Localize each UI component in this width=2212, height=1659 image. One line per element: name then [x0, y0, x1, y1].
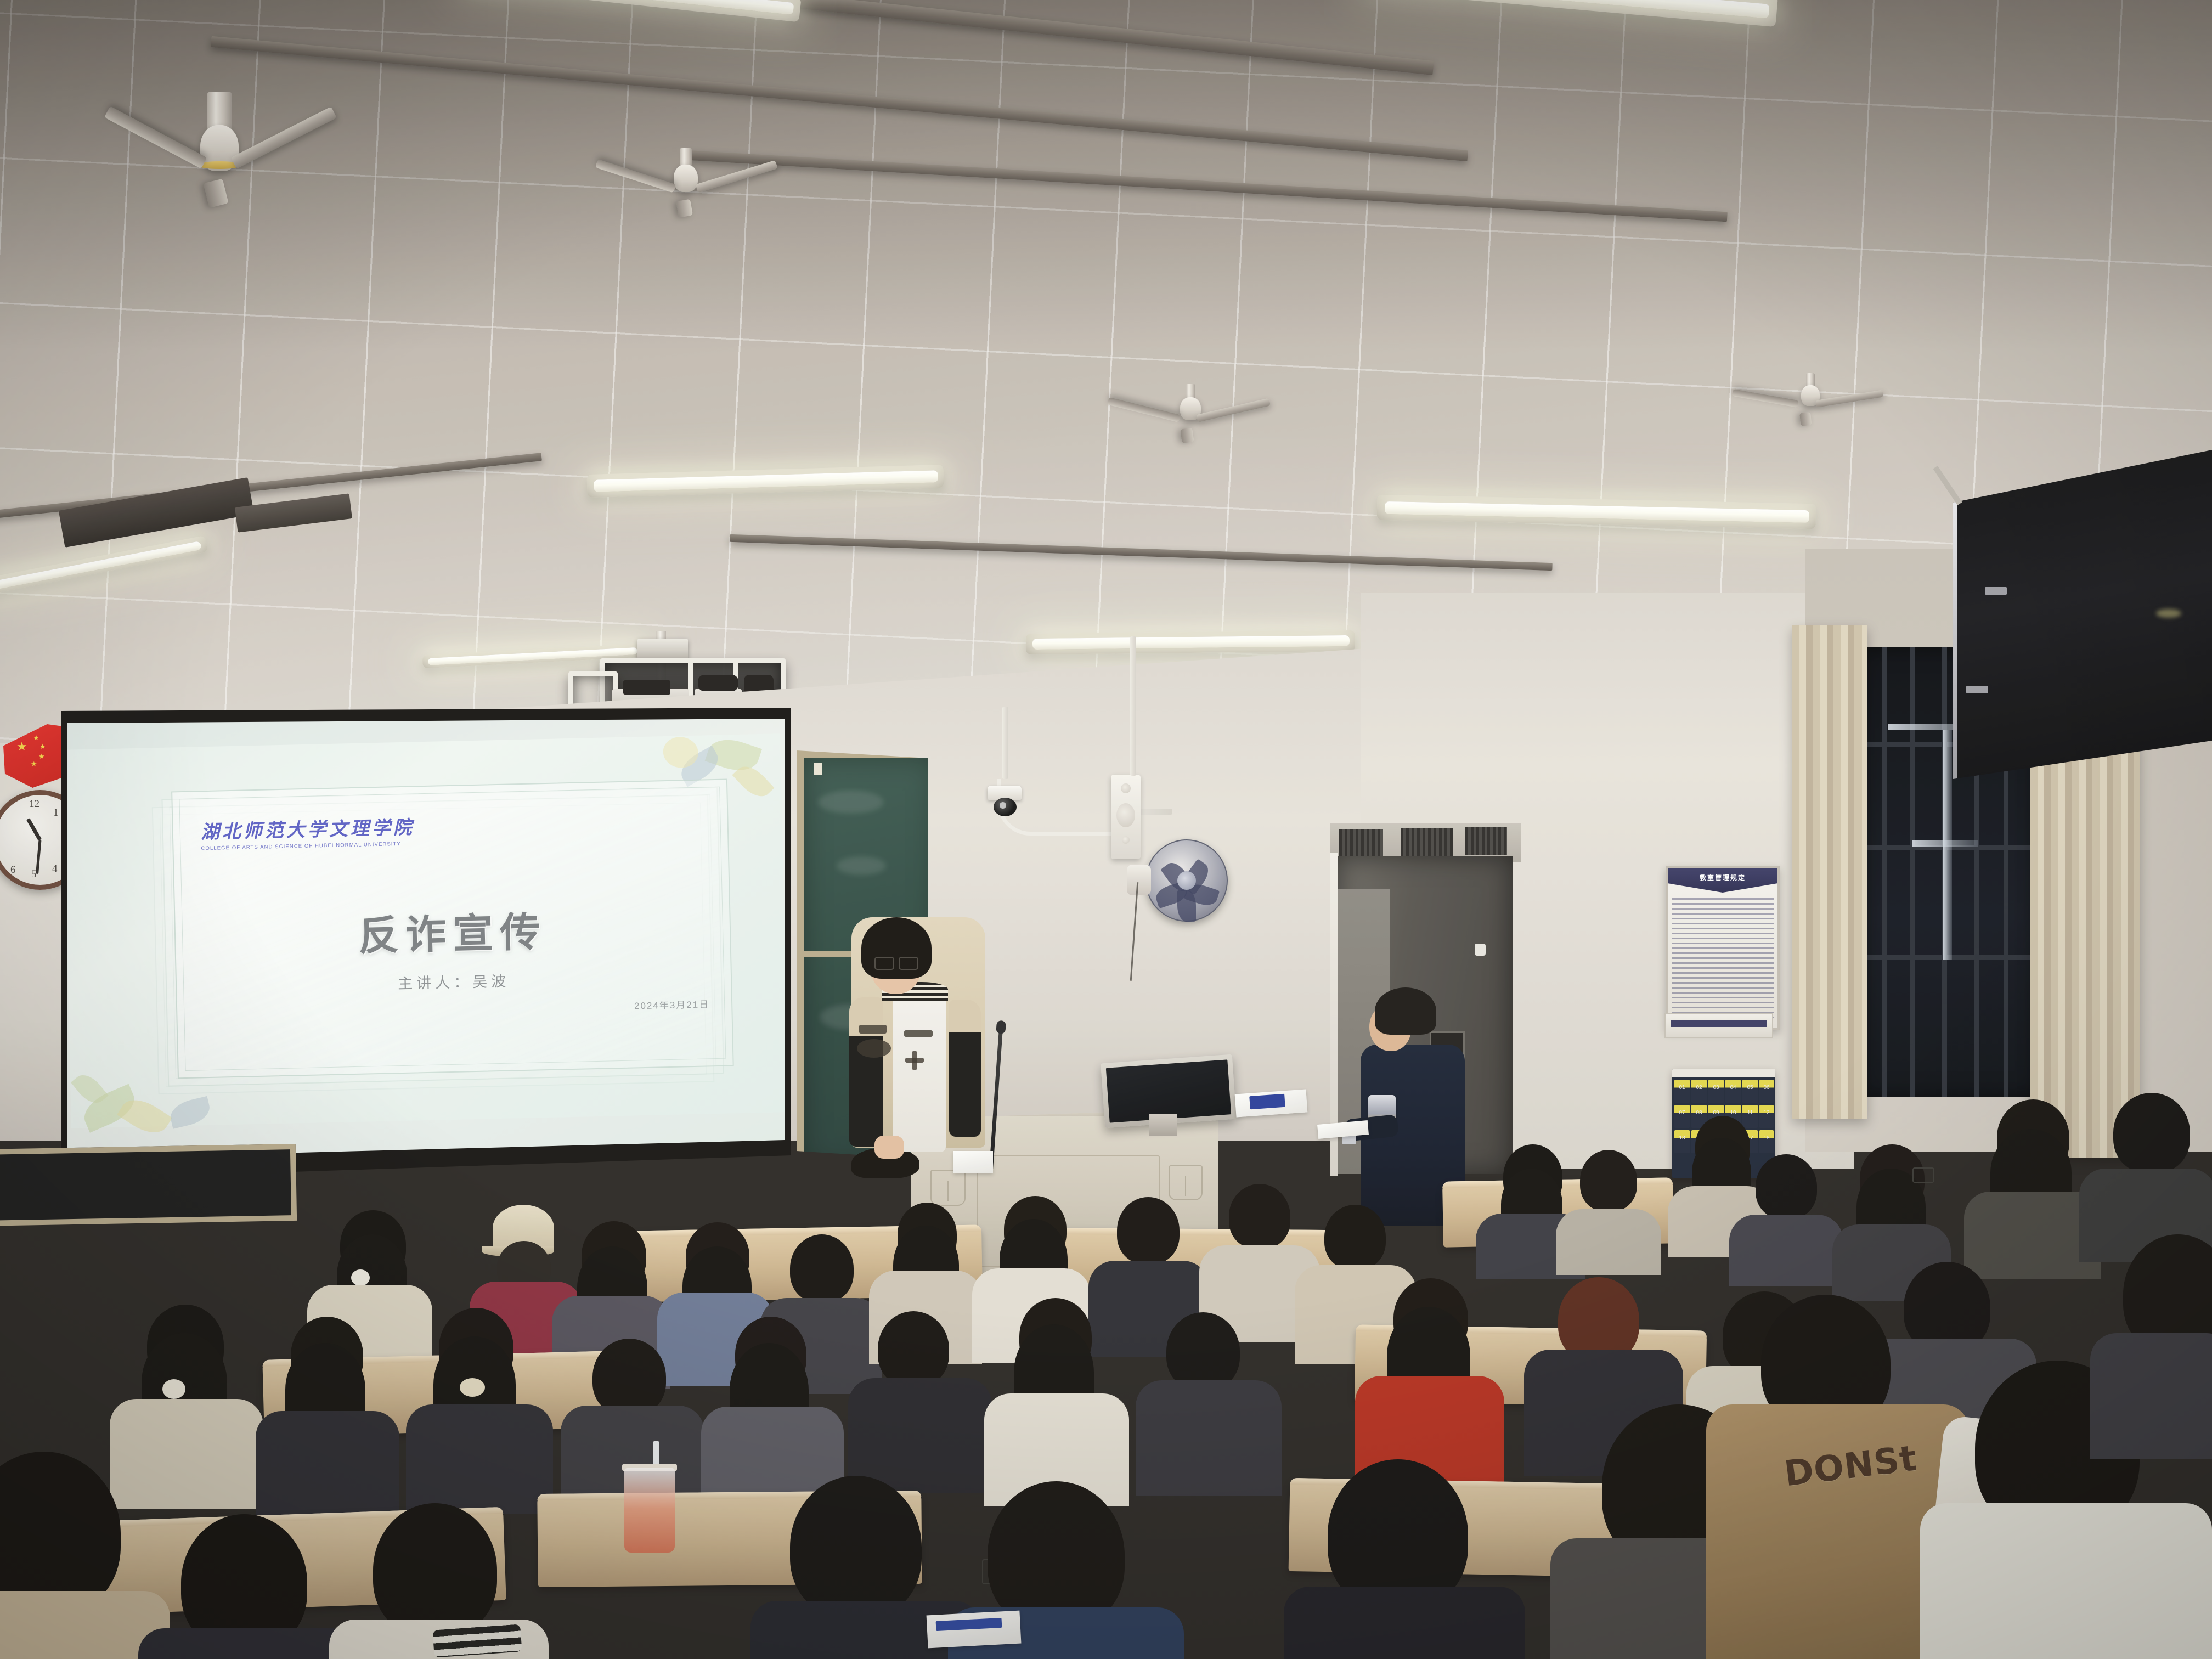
- flag-star: ★: [38, 753, 45, 760]
- student-shoulders: [1920, 1503, 2212, 1659]
- wall-speaker: [1111, 775, 1141, 859]
- pocket-slot: 12: [1759, 1105, 1774, 1128]
- student-shoulders: [2090, 1333, 2212, 1459]
- ceiling-fan: [104, 93, 335, 181]
- monitor-stand: [1149, 1114, 1177, 1136]
- fan-blade: [1732, 389, 1799, 408]
- student-glasses: [1912, 1167, 1934, 1183]
- presenter-sleeve-left: [849, 997, 883, 1147]
- notice-board-text: [1672, 898, 1774, 1021]
- notice-board-title: 教室管理规定: [1668, 868, 1777, 893]
- chalk-smudge: [837, 856, 886, 875]
- student-shoulders: [1284, 1587, 1525, 1659]
- student-shoulders: [406, 1404, 553, 1514]
- projection-screen-frame: 湖北师范大学文理学院 COLLEGE OF ARTS AND SCIENCE O…: [61, 708, 791, 1180]
- university-logo: 湖北师范大学文理学院 COLLEGE OF ARTS AND SCIENCE O…: [200, 812, 415, 851]
- hair-scrunchie: [351, 1269, 370, 1286]
- left-bulletin-frame: [0, 1144, 297, 1226]
- ceiling-fan: [603, 148, 768, 214]
- window-bar: [1910, 647, 1915, 1097]
- classroom-photo: ★ ★ ★ ★ ★ 12 1 2 3 4 5 6: [0, 0, 2212, 1659]
- wall-television[interactable]: [1953, 450, 2212, 779]
- clock-number: 4: [52, 863, 58, 875]
- student-shoulders: [110, 1399, 263, 1509]
- wall-mounted-fan: [1145, 839, 1228, 922]
- slide-date: 2024年3月21日: [634, 996, 710, 1012]
- student-shoulders: [256, 1411, 399, 1521]
- slide-title: 反诈宣传: [175, 895, 730, 966]
- fan-blade: [1107, 397, 1180, 422]
- student-head: [878, 1311, 949, 1387]
- presenter-hair: [861, 917, 932, 979]
- curtain-right[interactable]: [2030, 741, 2140, 1158]
- curtain-left[interactable]: [1792, 625, 1867, 1119]
- fan-motor: [674, 165, 698, 192]
- university-name-en: COLLEGE OF ARTS AND SCIENCE OF HUBEI NOR…: [201, 840, 415, 851]
- projection-screen[interactable]: 湖北师范大学文理学院 COLLEGE OF ARTS AND SCIENCE O…: [67, 719, 785, 1159]
- fan-blade: [676, 199, 693, 218]
- student-head: [1324, 1205, 1386, 1269]
- student-shoulders: [138, 1628, 358, 1659]
- fan-blade: [696, 160, 778, 193]
- cup-body: [624, 1468, 675, 1553]
- fan-blade: [1196, 398, 1271, 422]
- presenter: [851, 917, 978, 1224]
- tv-screen-reflection: [2156, 609, 2181, 618]
- jacket-graphic-print: [859, 1025, 887, 1034]
- pocket-slot: 13: [1674, 1130, 1690, 1153]
- jacket-graphic-print: [857, 1039, 891, 1058]
- pocket-board-header: [1672, 1069, 1775, 1077]
- student-head: [1580, 1150, 1637, 1211]
- pocket-slot: 05: [1742, 1080, 1758, 1103]
- chalk-smudge: [818, 791, 884, 814]
- speaker-woofer: [1116, 803, 1135, 827]
- flag-star: ★: [16, 741, 27, 753]
- projector-lens-housing: [623, 680, 670, 695]
- cctv-camera: [988, 786, 1024, 824]
- presenter-glasses: [874, 957, 918, 968]
- chalkboard-note: [814, 763, 822, 775]
- window-bar: [1882, 647, 1887, 1097]
- speaker-port: [1122, 836, 1130, 844]
- ceiling-fan: [1114, 384, 1267, 444]
- pocket-slot: 11: [1742, 1105, 1758, 1128]
- student-shoulders: [1729, 1215, 1843, 1286]
- pocket-slot: 18: [1759, 1130, 1774, 1153]
- clock-hour-hand: [26, 818, 42, 841]
- student-head: [1756, 1154, 1817, 1219]
- student-head: [790, 1234, 854, 1302]
- clock-number: 1: [53, 807, 59, 819]
- bubble-tea-cup[interactable]: [624, 1459, 675, 1553]
- student-head: [2113, 1093, 2190, 1173]
- flag-star: ★: [39, 743, 46, 750]
- pocket-slot: 02: [1691, 1080, 1707, 1103]
- electrical-conduit: [1002, 707, 1008, 779]
- pocket-slot: 01: [1674, 1080, 1690, 1103]
- poster-band: [1671, 1020, 1767, 1027]
- flag-star: ★: [33, 734, 39, 741]
- slide-card: 湖北师范大学文理学院 COLLEGE OF ARTS AND SCIENCE O…: [171, 778, 734, 1079]
- clock-minute-hand: [36, 840, 41, 874]
- university-name-cn: 湖北师范大学文理学院: [200, 812, 415, 844]
- pocket-slot: 03: [1708, 1080, 1724, 1103]
- transom-louver: [1339, 830, 1383, 856]
- hair-scrunchie: [162, 1379, 185, 1399]
- fan-blade: [104, 106, 207, 168]
- projector-ceiling-mount: [637, 639, 688, 661]
- wall-poster: [1664, 1013, 1773, 1038]
- pocket-slot: 07: [1674, 1105, 1690, 1128]
- student-head: [373, 1503, 497, 1637]
- student-head: [1117, 1197, 1180, 1264]
- lectern-decor-glyph: [1169, 1165, 1203, 1200]
- clock-number: 12: [29, 798, 39, 810]
- desk-edge: [1042, 1228, 1350, 1237]
- wall-fan-hub: [1177, 871, 1196, 890]
- student-shoulders: [848, 1378, 992, 1493]
- notice-board-classroom-rules: 教室管理规定: [1666, 866, 1780, 1030]
- fan-blade: [595, 159, 676, 193]
- transom-louver: [1401, 828, 1453, 856]
- pocket-slot: 06: [1759, 1080, 1774, 1103]
- student-head: [592, 1339, 666, 1415]
- lectern-paper-accent: [1249, 1094, 1285, 1109]
- tv-bracket-clip: [1985, 587, 2007, 595]
- electrical-conduit: [1130, 636, 1136, 776]
- camera-lens: [1000, 802, 1006, 809]
- presenter-tshirt: [893, 988, 946, 1152]
- speaker-tweeter: [1121, 783, 1131, 793]
- presenter-sleeve-right: [949, 1000, 981, 1137]
- student-shoulders: [1556, 1209, 1661, 1275]
- window-reflection: [1912, 840, 1978, 847]
- leaf-decoration: [167, 1096, 212, 1129]
- flag-star: ★: [31, 760, 37, 768]
- tshirt-graphic-print: [905, 1058, 924, 1063]
- student-shoulders: [1136, 1380, 1282, 1496]
- officer-hair: [1375, 988, 1436, 1035]
- wall-fan-bracket: [1127, 865, 1151, 895]
- ceiling-fan: [1739, 373, 1882, 428]
- projector-cable: [698, 675, 738, 691]
- presenter-hand: [874, 1136, 904, 1159]
- presentation-slide: 湖北师范大学文理学院 COLLEGE OF ARTS AND SCIENCE O…: [67, 733, 785, 1128]
- fan-blade: [1815, 390, 1884, 408]
- slide-presenter: 主讲人：吴波: [177, 964, 731, 998]
- student-head: [790, 1476, 922, 1618]
- tv-bezel-edge: [1953, 500, 1957, 780]
- tv-bracket-clip: [1966, 686, 1988, 693]
- pocket-slot: 04: [1725, 1080, 1741, 1103]
- fan-blade: [1180, 427, 1194, 443]
- tshirt-graphic-print: [904, 1030, 933, 1037]
- hair-scrunchie: [460, 1378, 485, 1397]
- fan-blade: [1799, 412, 1812, 426]
- fan-blade: [231, 106, 337, 169]
- student-head: [1229, 1184, 1290, 1249]
- door-handle[interactable]: [1475, 944, 1486, 956]
- clock-number: 6: [10, 864, 16, 876]
- transom-louver: [1465, 827, 1507, 855]
- student-head: [1166, 1312, 1240, 1390]
